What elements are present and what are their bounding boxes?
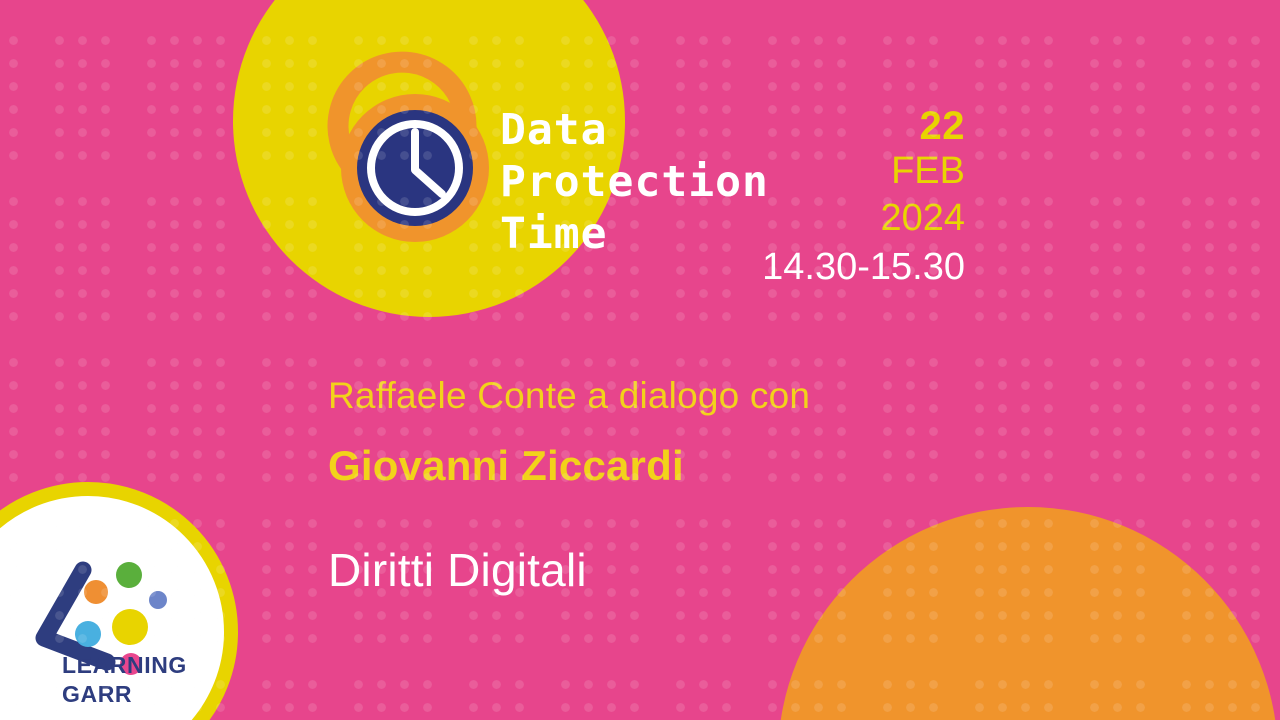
event-poster: Data Protection Time 22 FEB 2024 14.30-1… [0, 0, 1280, 720]
orange-circle-decoration [778, 507, 1278, 720]
date-month: FEB [715, 148, 965, 195]
speaker-name: Giovanni Ziccardi [328, 442, 684, 490]
talk-title: Diritti Digitali [328, 543, 587, 597]
learning-garr-wordmark: LEARNING GARR [62, 651, 187, 709]
event-date-block: 22 FEB 2024 14.30-15.30 [715, 104, 965, 292]
date-day: 22 [715, 104, 965, 148]
open-padlock-clock-icon [300, 18, 530, 253]
date-time: 14.30-15.30 [715, 242, 965, 292]
speaker-intro-text: Raffaele Conte a dialogo con [328, 375, 810, 417]
logo-line-1: LEARNING [62, 651, 187, 680]
learning-garr-logo: LEARNING GARR [0, 482, 238, 720]
logo-line-2: GARR [62, 680, 187, 709]
date-year: 2024 [715, 195, 965, 242]
